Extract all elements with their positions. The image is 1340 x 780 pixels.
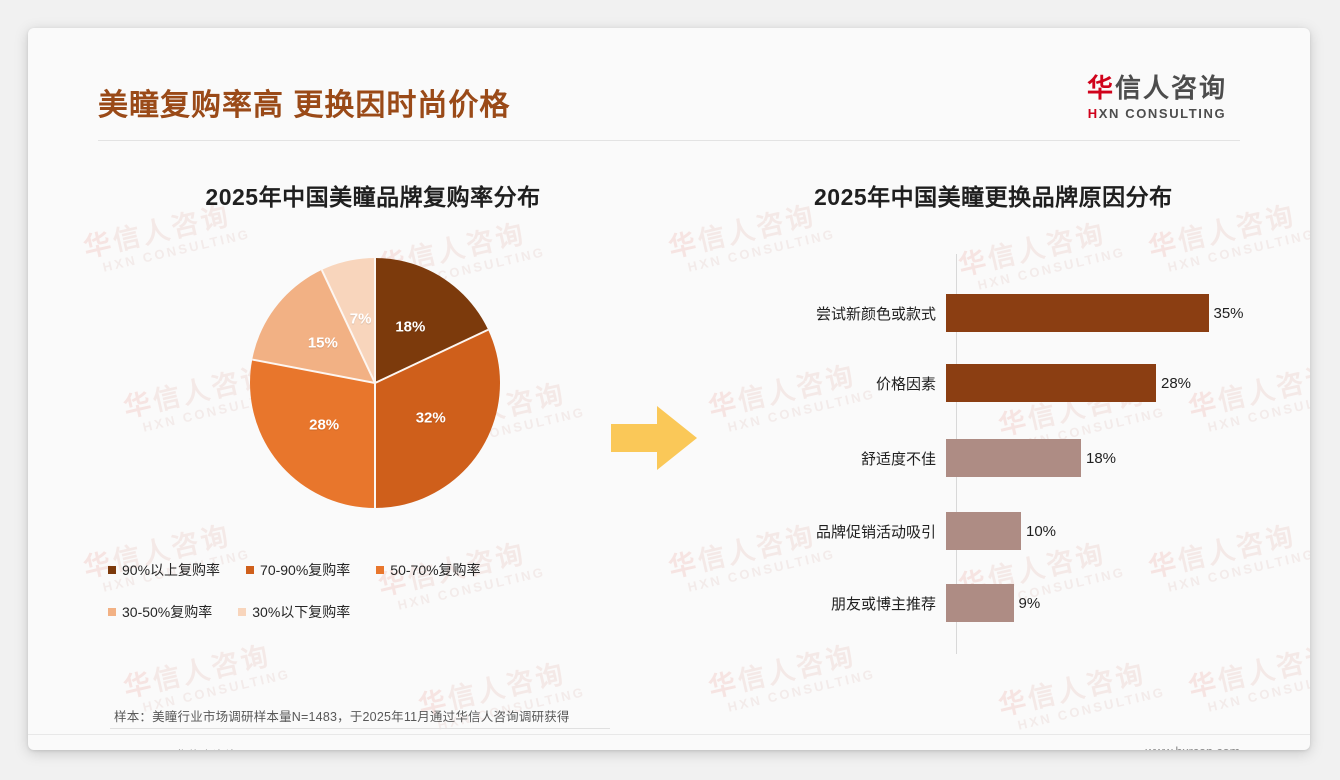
pie-chart-title: 2025年中国美瞳品牌复购率分布 [108,178,638,212]
legend-swatch [246,566,254,574]
legend-swatch [108,608,116,616]
bar-row: 舒适度不佳18% [748,439,1268,477]
presentation-slide: 华信人咨询HXN CONSULTING华信人咨询HXN CONSULTING华信… [28,28,1310,750]
bar-row: 品牌促销活动吸引10% [748,512,1268,550]
bar-category-label: 尝试新颜色或款式 [748,303,946,324]
logo-english-rest: XN CONSULTING [1099,106,1226,121]
legend-label: 30-50%复购率 [122,602,212,622]
bar-chart-title: 2025年中国美瞳更换品牌原因分布 [754,178,1268,212]
logo-hua-character: 华 [1087,73,1115,103]
pie-slice-label: 18% [395,319,425,336]
bar-track: 35% [946,294,1268,332]
bar-fill[interactable] [946,584,1014,622]
pie-slice-label: 7% [350,310,372,327]
pie-slice-divider [375,329,489,384]
bar-row: 朋友或博主推荐9% [748,584,1268,622]
logo-h-mark: H [1088,106,1099,121]
legend-item[interactable]: 70-90%复购率 [246,560,350,580]
copyright-text: ©2026.1 HXR华信人咨询 [98,745,238,750]
legend-label: 50-70%复购率 [390,560,480,580]
pie-slice-label: 32% [416,410,446,427]
bar-track: 9% [946,584,1268,622]
pie-chart-area: 18%32%28%15%7% [98,250,638,550]
bar-category-label: 舒适度不佳 [748,448,946,469]
pie-slice-label: 15% [308,334,338,351]
legend-swatch [376,566,384,574]
bar-category-label: 品牌促销活动吸引 [748,521,946,542]
footer-divider [28,734,1310,735]
bar-chart-area: 尝试新颜色或款式35%价格因素28%舒适度不佳18%品牌促销活动吸引10%朋友或… [748,254,1268,654]
bar-value-label: 35% [1214,305,1244,322]
pie-chart-legend: 90%以上复购率70-90%复购率50-70%复购率30-50%复购率30%以下… [108,560,628,622]
bar-row: 价格因素28% [748,364,1268,402]
footnote-divider [110,728,610,729]
legend-swatch [238,608,246,616]
right-arrow-icon [611,402,697,474]
page-title: 美瞳复购率高 更换因时尚价格 [98,80,510,124]
bar-track: 18% [946,439,1268,477]
company-logo: 华信人咨询 HXN CONSULTING [1072,74,1242,121]
bar-fill[interactable] [946,512,1021,550]
pie-slice-divider [374,258,376,383]
legend-label: 30%以下复购率 [252,602,350,622]
bar-track: 28% [946,364,1268,402]
bar-fill[interactable] [946,439,1081,477]
pie-slice-divider [374,383,376,508]
website-url: www.hxrcon.com [1146,745,1240,750]
legend-item[interactable]: 30%以下复购率 [238,602,350,622]
bar-value-label: 10% [1026,523,1056,540]
pie-slice-label: 28% [309,417,339,434]
bar-fill[interactable] [946,364,1156,402]
bar-value-label: 18% [1086,450,1116,467]
pie-chart-panel: 2025年中国美瞳品牌复购率分布 18%32%28%15%7% 90%以上复购率… [98,178,638,678]
slide-header: 美瞳复购率高 更换因时尚价格 华信人咨询 HXN CONSULTING [28,28,1310,140]
logo-chinese-text: 华信人咨询 [1072,74,1242,103]
pie-chart: 18%32%28%15%7% [250,258,500,508]
bar-track: 10% [946,512,1268,550]
bar-value-label: 9% [1019,595,1041,612]
source-note: 样本：美瞳行业市场调研样本量N=1483，于2025年11月通过华信人咨询调研获… [114,706,570,725]
legend-swatch [108,566,116,574]
legend-item[interactable]: 30-50%复购率 [108,602,212,622]
pie-slice-divider [252,359,375,384]
slide-page: 华信人咨询HXN CONSULTING华信人咨询HXN CONSULTING华信… [0,0,1340,780]
legend-label: 90%以上复购率 [122,560,220,580]
bar-value-label: 28% [1161,375,1191,392]
bar-category-label: 价格因素 [748,373,946,394]
legend-item[interactable]: 50-70%复购率 [376,560,480,580]
legend-label: 70-90%复购率 [260,560,350,580]
bar-row: 尝试新颜色或款式35% [748,294,1268,332]
legend-item[interactable]: 90%以上复购率 [108,560,220,580]
title-divider [98,140,1240,141]
bar-category-label: 朋友或博主推荐 [748,593,946,614]
logo-chinese-rest: 信人咨询 [1115,73,1227,103]
bar-fill[interactable] [946,294,1209,332]
logo-english-text: HXN CONSULTING [1072,106,1242,121]
bar-chart-panel: 2025年中国美瞳更换品牌原因分布 尝试新颜色或款式35%价格因素28%舒适度不… [748,178,1268,678]
